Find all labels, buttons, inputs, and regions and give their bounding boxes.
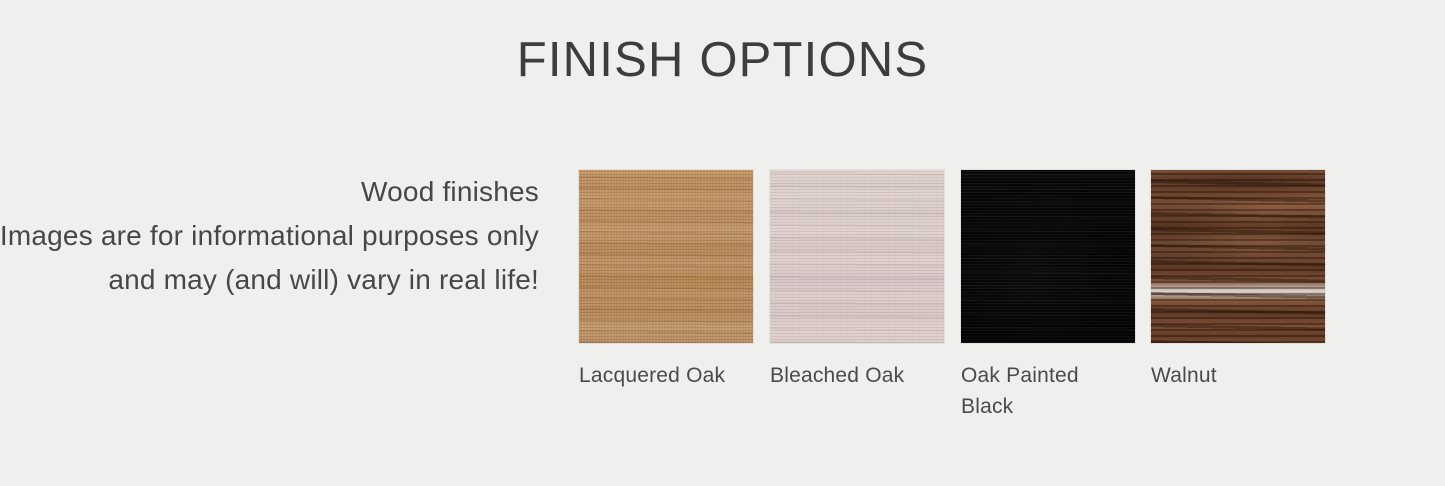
info-line-disclaimer-1: Images are for informational purposes on…: [0, 214, 539, 258]
swatch-label-lacquered-oak: Lacquered Oak: [579, 360, 753, 391]
finish-options-page: FINISH OPTIONS Wood finishes Images are …: [0, 0, 1445, 486]
finish-option-bleached-oak[interactable]: Bleached Oak: [770, 170, 944, 391]
info-line-disclaimer-2: and may (and will) vary in real life!: [0, 258, 539, 302]
wood-finishes-info-block: Wood finishes Images are for information…: [0, 170, 539, 302]
swatch-chip-oak-painted-black[interactable]: [961, 170, 1135, 343]
page-title: FINISH OPTIONS: [0, 36, 1445, 85]
finish-option-walnut[interactable]: Walnut: [1151, 170, 1325, 391]
swatch-chip-walnut[interactable]: [1151, 170, 1325, 343]
finish-option-lacquered-oak[interactable]: Lacquered Oak: [579, 170, 753, 391]
wood-grain-fine: [579, 170, 753, 343]
finish-swatch-row: Lacquered Oak Bleached Oak Oak Painted B…: [579, 170, 1339, 460]
swatch-chip-bleached-oak[interactable]: [770, 170, 944, 343]
swatch-label-bleached-oak: Bleached Oak: [770, 360, 944, 391]
swatch-label-walnut: Walnut: [1151, 360, 1325, 391]
wood-grain-cathedral: [1151, 170, 1325, 343]
wood-grain-fine: [770, 170, 944, 343]
swatch-chip-lacquered-oak[interactable]: [579, 170, 753, 343]
info-line-heading: Wood finishes: [0, 170, 539, 214]
wood-grain-fine: [961, 170, 1135, 343]
finish-option-oak-painted-black[interactable]: Oak Painted Black: [961, 170, 1135, 422]
swatch-label-oak-painted-black: Oak Painted Black: [961, 360, 1135, 422]
